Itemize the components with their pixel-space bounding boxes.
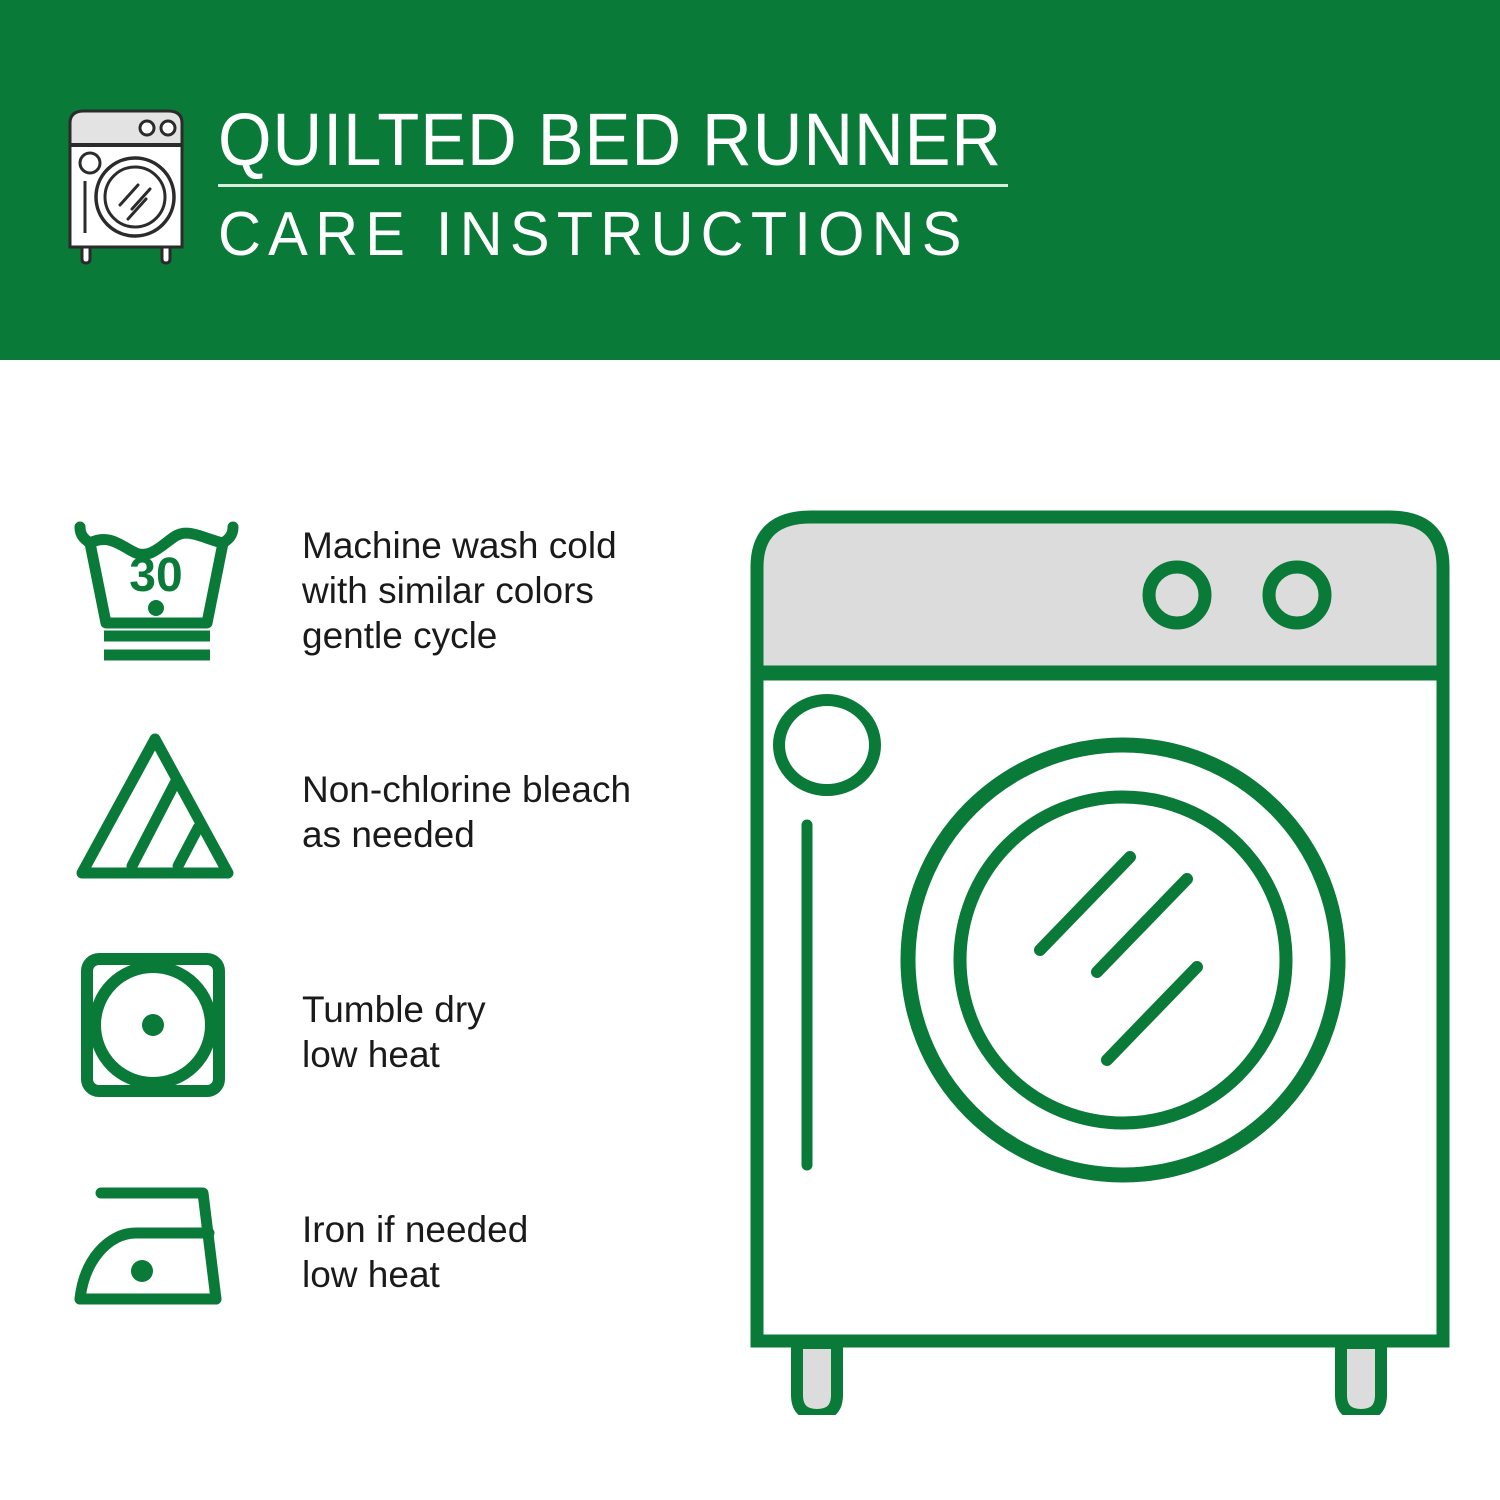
tumble-dry-low-symbol bbox=[70, 945, 245, 1105]
care-instruction-row: Tumble dry low heat bbox=[70, 945, 710, 1165]
care-instructions-infographic: QUILTED BED RUNNER CARE INSTRUCTIONS bbox=[0, 0, 1500, 1500]
care-instruction-label: Non-chlorine bleach as needed bbox=[302, 767, 631, 857]
care-instruction-label: Tumble dry low heat bbox=[302, 987, 486, 1077]
non-chlorine-bleach-symbol bbox=[70, 725, 245, 885]
washing-machine-icon bbox=[62, 105, 197, 265]
feet bbox=[797, 1343, 837, 1415]
detergent-dispenser bbox=[779, 700, 875, 790]
care-instruction-label: Iron if needed low heat bbox=[302, 1207, 528, 1297]
machine-wash-30-gentle-symbol: 30 bbox=[70, 505, 245, 665]
header-divider bbox=[218, 184, 1008, 187]
care-instruction-list: 30 Machine wash cold with similar colors… bbox=[70, 505, 710, 1385]
page-subtitle: CARE INSTRUCTIONS bbox=[218, 201, 986, 269]
care-instruction-row: Non-chlorine bleach as needed bbox=[70, 725, 710, 945]
feet bbox=[1341, 1343, 1381, 1415]
control-panel bbox=[757, 517, 1443, 673]
wash-temperature-value: 30 bbox=[129, 549, 182, 602]
header-text-block: QUILTED BED RUNNER CARE INSTRUCTIONS bbox=[218, 100, 1018, 269]
care-instruction-label: Machine wash cold with similar colors ge… bbox=[302, 523, 617, 658]
care-instruction-row: Iron if needed low heat bbox=[70, 1165, 710, 1385]
header-band: QUILTED BED RUNNER CARE INSTRUCTIONS bbox=[0, 0, 1500, 360]
knob bbox=[1149, 567, 1205, 623]
care-instruction-row: 30 Machine wash cold with similar colors… bbox=[70, 505, 710, 725]
iron-low-heat-symbol bbox=[70, 1165, 245, 1325]
door-inner-ring bbox=[960, 797, 1286, 1123]
knob bbox=[1269, 567, 1325, 623]
page-title: QUILTED BED RUNNER bbox=[218, 100, 962, 180]
washing-machine-illustration bbox=[735, 495, 1465, 1415]
